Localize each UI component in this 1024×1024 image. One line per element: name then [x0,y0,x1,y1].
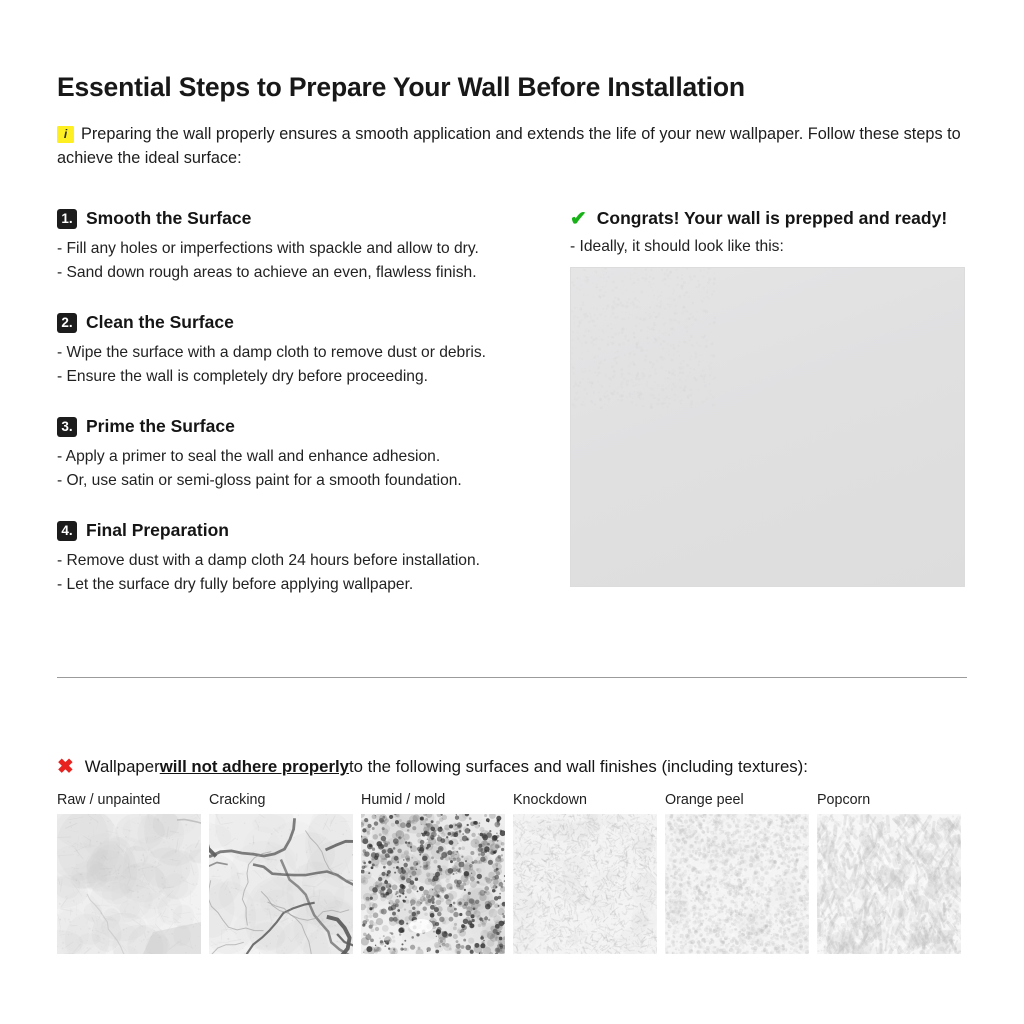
step-header: 2. Clean the Surface [57,312,552,333]
surface-thumb [209,814,361,954]
step-number-badge: 4. [57,521,77,541]
step-number-badge: 1. [57,209,77,229]
step-item: 1. Smooth the Surface - Fill any holes o… [57,208,552,284]
step-heading: Smooth the Surface [86,208,251,229]
step-bullet: - Ensure the wall is completely dry befo… [57,365,552,389]
step-bullet: - Or, use satin or semi-gloss paint for … [57,469,552,493]
result-subtext: - Ideally, it should look like this: [570,236,970,258]
surface-label: Orange peel [665,792,817,808]
step-bullet: - Fill any holes or imperfections with s… [57,237,552,261]
surface-label: Raw / unpainted [57,792,209,808]
result-column: ✔ Congrats! Your wall is prepped and rea… [570,208,970,587]
intro-paragraph: iPreparing the wall properly ensures a s… [57,122,972,170]
texture-raw-image [57,814,201,954]
surface-label: Cracking [209,792,361,808]
surface-label: Popcorn [817,792,969,808]
step-header: 3. Prime the Surface [57,416,552,437]
surface-label-row: Raw / unpainted Cracking Humid / mold Kn… [57,792,977,808]
surface-thumb [361,814,513,954]
step-number-badge: 2. [57,313,77,333]
document-page: Essential Steps to Prepare Your Wall Bef… [0,0,1024,1024]
close-icon: ✖ [57,757,74,777]
texture-orangepeel-image [665,814,809,954]
step-heading: Prime the Surface [86,416,235,437]
surface-label: Knockdown [513,792,665,808]
steps-column: 1. Smooth the Surface - Fill any holes o… [57,208,552,596]
prepped-wall-image [570,267,965,587]
texture-mold-image [361,814,505,954]
warning-emphasis: will not adhere properly [160,757,349,777]
surface-thumb-row [57,814,977,954]
step-bullet: - Let the surface dry fully before apply… [57,573,552,597]
surface-label: Humid / mold [361,792,513,808]
step-item: 3. Prime the Surface - Apply a primer to… [57,416,552,492]
step-item: 4. Final Preparation - Remove dust with … [57,520,552,596]
step-number-badge: 3. [57,417,77,437]
page-title: Essential Steps to Prepare Your Wall Bef… [57,72,745,103]
surface-thumb [513,814,665,954]
result-heading: Congrats! Your wall is prepped and ready… [597,208,947,229]
warning-suffix: to the following surfaces and wall finis… [349,757,808,777]
step-heading: Final Preparation [86,520,229,541]
texture-popcorn-image [817,814,961,954]
intro-text: Preparing the wall properly ensures a sm… [57,125,961,167]
step-bullet: - Wipe the surface with a damp cloth to … [57,341,552,365]
texture-knockdown-image [513,814,657,954]
section-divider [57,677,967,678]
step-item: 2. Clean the Surface - Wipe the surface … [57,312,552,388]
warning-prefix: Wallpaper [85,757,160,777]
warning-row: ✖ Wallpaper will not adhere properly to … [57,757,977,777]
step-bullet: - Remove dust with a damp cloth 24 hours… [57,549,552,573]
step-bullet: - Apply a primer to seal the wall and en… [57,445,552,469]
step-bullet: - Sand down rough areas to achieve an ev… [57,261,552,285]
step-header: 1. Smooth the Surface [57,208,552,229]
surface-gallery: Raw / unpainted Cracking Humid / mold Kn… [57,792,977,954]
surface-thumb [817,814,969,954]
step-heading: Clean the Surface [86,312,234,333]
result-header: ✔ Congrats! Your wall is prepped and rea… [570,208,970,229]
surface-thumb [665,814,817,954]
info-icon: i [57,126,74,143]
texture-cracking-image [209,814,353,954]
surface-thumb [57,814,209,954]
step-header: 4. Final Preparation [57,520,552,541]
check-icon: ✔ [570,209,587,229]
